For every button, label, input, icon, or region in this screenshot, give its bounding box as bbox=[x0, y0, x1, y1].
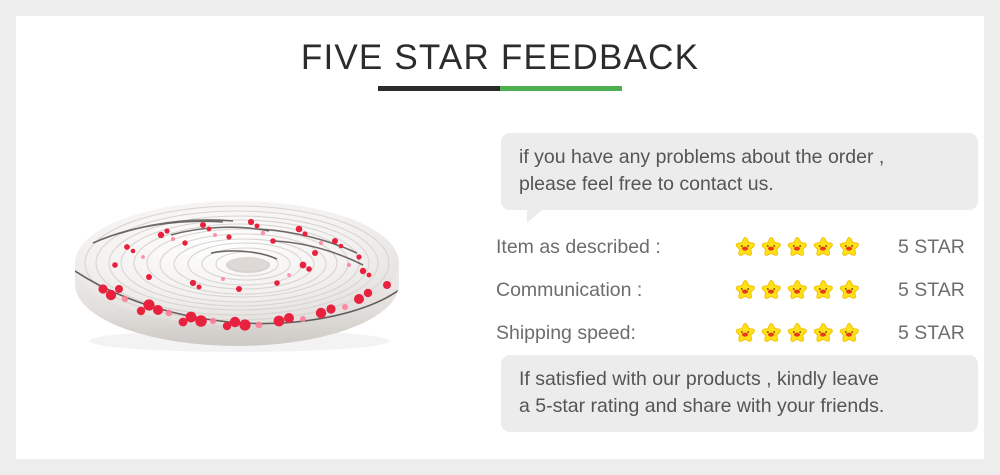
rating-label-shipping-speed: Shipping speed: bbox=[496, 322, 636, 345]
star-rating-shipping-speed bbox=[733, 322, 861, 346]
star-icon bbox=[759, 236, 783, 260]
star-icon bbox=[811, 279, 835, 303]
rating-row: Shipping speed: 5 STAR bbox=[485, 312, 984, 355]
star-icon bbox=[811, 322, 835, 346]
rating-label-communication: Communication : bbox=[496, 279, 642, 302]
star-icon bbox=[733, 236, 757, 260]
star-icon bbox=[837, 279, 861, 303]
star-icon bbox=[785, 236, 809, 260]
star-icon bbox=[759, 322, 783, 346]
star-icon bbox=[785, 322, 809, 346]
rating-row: Communication : 5 STAR bbox=[485, 269, 984, 312]
speech-bubble-tail bbox=[527, 209, 543, 223]
help-message-line-1: if you have any problems about the order… bbox=[519, 144, 960, 171]
star-icon bbox=[837, 236, 861, 260]
star-icon bbox=[785, 279, 809, 303]
star-rating-communication bbox=[733, 279, 861, 303]
rating-value-item-as-described: 5 STAR bbox=[898, 236, 965, 259]
rating-value-communication: 5 STAR bbox=[898, 279, 965, 302]
star-icon bbox=[733, 279, 757, 303]
star-icon bbox=[837, 322, 861, 346]
star-icon bbox=[759, 279, 783, 303]
review-request-bubble: If satisfied with our products , kindly … bbox=[501, 355, 978, 432]
star-icon bbox=[811, 236, 835, 260]
rating-row: Item as described : 5 STAR bbox=[485, 226, 984, 269]
star-icon bbox=[733, 322, 757, 346]
ratings-list: Item as described : 5 STAR Communication… bbox=[485, 226, 984, 355]
feedback-content: if you have any problems about the order… bbox=[485, 16, 984, 459]
product-image-shoelace-coil bbox=[63, 191, 408, 356]
review-request-line-2: a 5-star rating and share with your frie… bbox=[519, 393, 960, 420]
banner-panel: FIVE STAR FEEDBACK bbox=[16, 16, 984, 459]
help-message-bubble: if you have any problems about the order… bbox=[501, 133, 978, 210]
review-request-line-1: If satisfied with our products , kindly … bbox=[519, 366, 960, 393]
help-message-line-2: please feel free to contact us. bbox=[519, 171, 960, 198]
title-underline-dark-segment bbox=[378, 86, 500, 91]
rating-label-item-as-described: Item as described : bbox=[496, 236, 661, 259]
feedback-banner: FIVE STAR FEEDBACK bbox=[0, 0, 1000, 475]
rating-value-shipping-speed: 5 STAR bbox=[898, 322, 965, 345]
star-rating-item-as-described bbox=[733, 236, 861, 260]
